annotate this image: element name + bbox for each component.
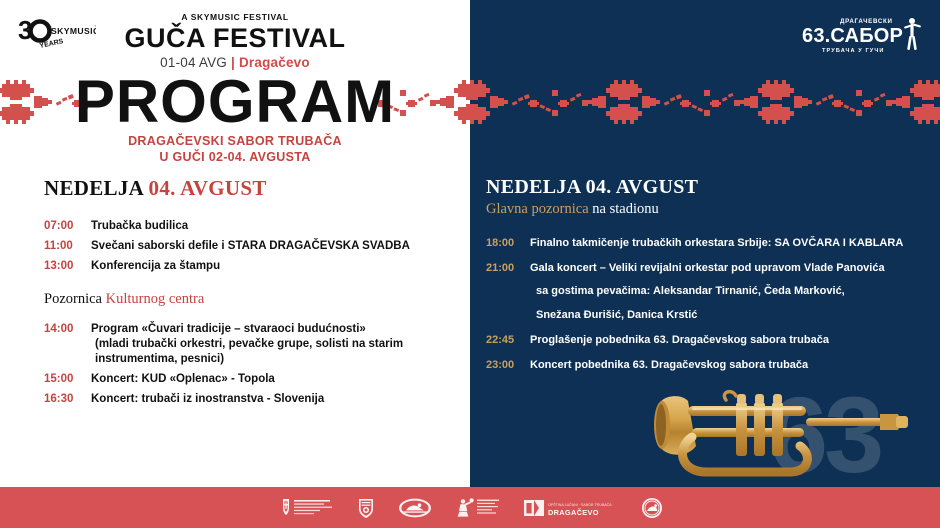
event-description: Svečani saborski defile i STARA DRAGAČEV… [91,239,410,254]
left-day-heading: NEDELJA 04. AVGUST [44,176,444,201]
event-time: 16:30 [44,392,91,407]
sabor-logo-main-text: 63.САБОР [802,25,903,47]
schedule-row: 07:00 Trubačka budilica [44,219,444,234]
event-description: Koncert pobednika 63. Dragačevskog sabor… [530,358,808,373]
event-description: Trubačka budilica [91,219,188,234]
event-description: Proglašenje pobednika 63. Dragačevskog s… [530,333,829,348]
svg-text:OPŠTINA LUČANI · SABOR TRUBAČA: OPŠTINA LUČANI · SABOR TRUBAČA [548,502,612,507]
trumpet-player-emblem-logo [454,497,500,519]
tourism-organization-seal-logo [398,497,432,519]
festival-kicker: A SKYMUSIC FESTIVAL [0,12,470,22]
republic-of-serbia-coat-of-arms-logo [276,497,334,519]
left-stage-label: Pozornica Kulturnog centra [44,291,444,308]
event-description: Finalno takmičenje trubačkih orkestara S… [530,236,903,251]
sabor-round-seal-logo [640,497,664,519]
event-time: 21:00 [486,261,530,323]
program-title-block: PROGRAM DRAGAČEVSKI SABOR TRUBAČA U GUČI… [0,73,470,165]
event-description-cont-1: sa gostima pevačima: Aleksandar Tirnanić… [530,284,885,299]
program-subtitle-line-1: DRAGAČEVSKI SABOR TRUBAČA [0,134,470,150]
cacak-municipality-crest-logo [356,497,376,519]
schedule-row: 14:00 Program «Čuvari tradicije – stvara… [44,322,444,368]
schedule-row: 13:00 Konferencija za štampu [44,259,444,274]
schedule-row: 16:30 Koncert: trubači iz inostranstva -… [44,392,444,407]
event-time: 14:00 [44,322,91,368]
schedule-row: 21:00 Gala koncert – Veliki revijalni or… [486,261,934,323]
event-time: 15:00 [44,372,91,387]
dragacevo-cultural-center-logo: OPŠTINA LUČANI · SABOR TRUBAČA DRAGAČEVO [522,497,618,519]
left-day-date: 04. AVGUST [149,176,267,200]
schedule-row: 11:00 Svečani saborski defile i STARA DR… [44,239,444,254]
festival-title-block: A SKYMUSIC FESTIVAL GUČA FESTIVAL 01-04 … [0,12,470,70]
event-time: 11:00 [44,239,91,254]
right-schedule-column: NEDELJA 04. AVGUST Glavna pozornica na s… [486,176,934,382]
sabor-63-logo: ДРАГАЧЕВСКИ 63.САБОР ТРУБАЧА У ГУЧИ [800,10,926,56]
trumpet-artwork: 63 [640,368,940,488]
event-description: Koncert: trubači iz inostranstva - Slove… [91,392,324,407]
sabor-logo-top-text: ДРАГАЧЕВСКИ [840,18,893,25]
event-description-cont-2: Snežana Đurišić, Danica Krstić [530,308,885,323]
event-time: 07:00 [44,219,91,234]
event-time: 23:00 [486,358,530,373]
program-wordmark: PROGRAM [0,73,470,130]
event-description: Koncert: KUD «Oplenac» - Topola [91,372,275,387]
left-stage-prefix: Pozornica [44,291,102,307]
sponsor-footer-band: OPŠTINA LUČANI · SABOR TRUBAČA DRAGAČEVO [0,487,940,528]
svg-text:DRAGAČEVO: DRAGAČEVO [548,508,599,517]
event-description-main: Program «Čuvari tradicije – stvaraoci bu… [91,323,366,335]
event-description: Program «Čuvari tradicije – stvaraoci bu… [91,322,403,368]
left-stage-accent: Kulturnog centra [106,291,205,307]
left-schedule-column: NEDELJA 04. AVGUST 07:00 Trubačka budili… [44,176,444,412]
left-day-label: NEDELJA [44,176,143,200]
right-stage-accent: Glavna pozornica [486,201,589,217]
event-description-main: Gala koncert – Veliki revijalni orkestar… [530,262,885,274]
schedule-row: 22:45 Proglašenje pobednika 63. Dragačev… [486,333,934,348]
event-description-cont-2: instrumentima, pesnici) [91,352,403,367]
right-stage-rest: na stadionu [592,201,658,217]
sabor-logo-bottom-text: ТРУБАЧА У ГУЧИ [822,48,885,54]
event-description: Konferencija za štampu [91,259,220,274]
program-subtitle-line-2: U GUČI 02-04. AVGUSTA [0,150,470,166]
trumpeter-figure-icon [904,18,921,50]
event-time: 18:00 [486,236,530,251]
festival-title: GUČA FESTIVAL [0,24,470,52]
schedule-row: 15:00 Koncert: KUD «Oplenac» - Topola [44,372,444,387]
right-day-heading: NEDELJA 04. AVGUST [486,176,934,199]
event-description: Gala koncert – Veliki revijalni orkestar… [530,261,885,323]
schedule-row: 18:00 Finalno takmičenje trubačkih orkes… [486,236,934,251]
schedule-row: 23:00 Koncert pobednika 63. Dragačevskog… [486,358,934,373]
right-stage-label: Glavna pozornica na stadionu [486,201,934,218]
festival-program-poster: 3 SKYMUSIC ™ YEARS ДРАГАЧЕВСКИ 63.САБОР … [0,0,940,528]
event-time: 13:00 [44,259,91,274]
event-description-cont-1: (mladi trubački orkestri, pevačke grupe,… [91,337,403,352]
program-subtitle: DRAGAČEVSKI SABOR TRUBAČA U GUČI 02-04. … [0,134,470,165]
event-time: 22:45 [486,333,530,348]
